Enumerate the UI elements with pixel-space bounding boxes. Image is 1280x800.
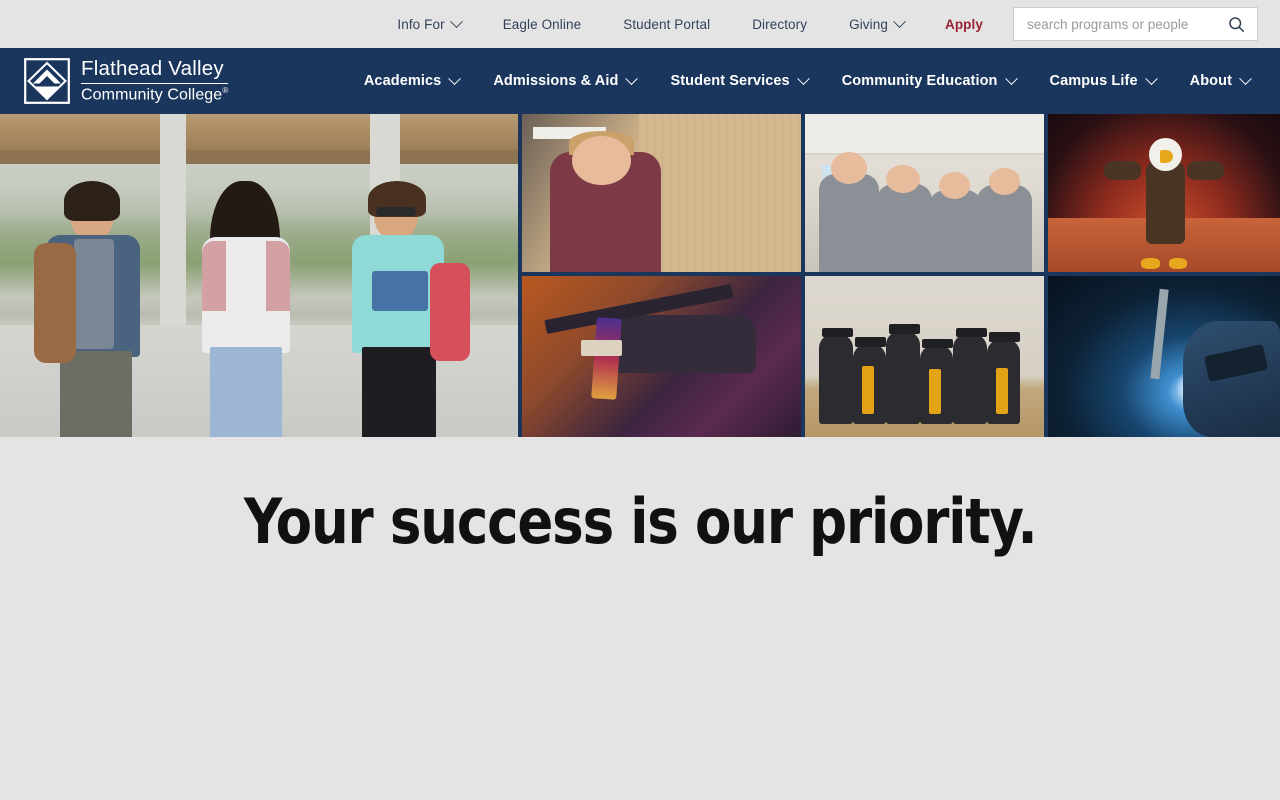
photo-students-walking-campus xyxy=(0,114,518,437)
hero-tile-graduating-class-group xyxy=(805,276,1045,437)
nav-item-label: About xyxy=(1190,73,1232,89)
utility-bar: Info For Eagle Online Student Portal Dir… xyxy=(0,0,1280,48)
nav-item-label: Community Education xyxy=(842,73,998,89)
photo-graduating-class-group xyxy=(805,276,1045,437)
nav-item-admissions-aid[interactable]: Admissions & Aid xyxy=(476,73,653,89)
fvcc-diamond-mountain-logo-icon xyxy=(24,58,70,104)
utility-link-label: Giving xyxy=(849,17,888,32)
page-headline: Your success is our priority. xyxy=(244,485,1037,558)
utility-link-info-for[interactable]: Info For xyxy=(376,17,481,32)
utility-link-label: Directory xyxy=(752,17,807,32)
logo-wordmark: Flathead Valley Community College® xyxy=(81,59,228,103)
nav-item-community-education[interactable]: Community Education xyxy=(825,73,1033,89)
utility-link-giving[interactable]: Giving xyxy=(828,17,925,32)
utility-link-label: Info For xyxy=(397,17,444,32)
chevron-down-icon xyxy=(893,15,906,28)
nav-item-label: Admissions & Aid xyxy=(493,73,618,89)
hero-tile-ems-paramedic-team xyxy=(805,114,1045,272)
nav-item-academics[interactable]: Academics xyxy=(347,73,476,89)
hero-tile-welding-student xyxy=(1048,276,1280,437)
nav-item-label: Campus Life xyxy=(1050,73,1138,89)
photo-graduation-cap-tassel xyxy=(522,276,801,437)
utility-link-label: Student Portal xyxy=(623,17,710,32)
chevron-down-icon xyxy=(626,72,639,85)
utility-nav: Info For Eagle Online Student Portal Dir… xyxy=(376,7,1258,41)
search-input[interactable] xyxy=(1027,17,1226,32)
hero-tile-graduation-cap-tassel xyxy=(522,276,801,437)
logo-trademark: ® xyxy=(222,86,228,95)
logo-line-2-text: Community College xyxy=(81,86,222,103)
site-search[interactable] xyxy=(1013,7,1258,41)
main-navigation-bar: Flathead Valley Community College® Acade… xyxy=(0,48,1280,114)
primary-nav: Academics Admissions & Aid Student Servi… xyxy=(347,73,1258,89)
utility-link-label: Apply xyxy=(945,17,983,32)
chevron-down-icon xyxy=(450,15,463,28)
photo-eagle-mascot xyxy=(1048,114,1280,272)
hero-tile-grid xyxy=(522,114,1280,437)
chevron-down-icon xyxy=(1005,72,1018,85)
search-icon xyxy=(1228,16,1245,33)
site-logo[interactable]: Flathead Valley Community College® xyxy=(24,58,228,104)
hero-tile-eagle-mascot xyxy=(1048,114,1280,272)
nav-item-student-services[interactable]: Student Services xyxy=(653,73,824,89)
nav-item-campus-life[interactable]: Campus Life xyxy=(1033,73,1173,89)
chevron-down-icon xyxy=(1239,72,1252,85)
nav-item-about[interactable]: About xyxy=(1173,73,1258,89)
utility-link-label: Eagle Online xyxy=(503,17,582,32)
utility-link-eagle-online[interactable]: Eagle Online xyxy=(482,17,603,32)
hero-tile-automotive-student-shop xyxy=(522,114,801,272)
utility-link-student-portal[interactable]: Student Portal xyxy=(602,17,731,32)
photo-automotive-student-shop xyxy=(522,114,801,272)
nav-item-label: Student Services xyxy=(670,73,789,89)
photo-welding-student xyxy=(1048,276,1280,437)
headline-section: Your success is our priority. xyxy=(0,437,1280,605)
nav-item-label: Academics xyxy=(364,73,441,89)
utility-link-apply[interactable]: Apply xyxy=(925,17,1007,32)
hero-tile-students-walking-campus xyxy=(0,114,518,437)
logo-line-1: Flathead Valley xyxy=(81,59,228,84)
chevron-down-icon xyxy=(1145,72,1158,85)
photo-ems-paramedic-team xyxy=(805,114,1045,272)
chevron-down-icon xyxy=(797,72,810,85)
chevron-down-icon xyxy=(448,72,461,85)
utility-link-directory[interactable]: Directory xyxy=(731,17,828,32)
logo-line-2: Community College® xyxy=(81,84,228,103)
hero-image-collage xyxy=(0,114,1280,437)
search-submit-button[interactable] xyxy=(1226,16,1247,33)
